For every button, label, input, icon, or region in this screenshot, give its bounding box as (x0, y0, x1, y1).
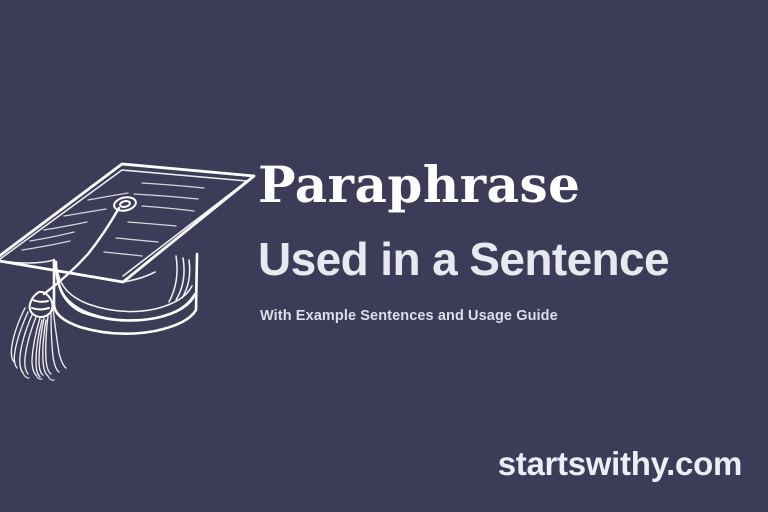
graduation-cap-sketch-icon (0, 142, 282, 372)
tassel-cord (44, 208, 119, 294)
cap-hatching (22, 183, 204, 256)
cap-mortarboard (0, 164, 254, 282)
tassel-strand-tips (23, 373, 54, 380)
cap-mortarboard-inner-edge (0, 170, 247, 282)
page-title-secondary: Used in a Sentence (258, 236, 758, 282)
tassel-knot (30, 292, 53, 317)
page-subtitle: With Example Sentences and Usage Guide (260, 308, 758, 324)
cap-button (113, 195, 137, 212)
headline-block: Paraphrase Used in a Sentence With Examp… (258, 160, 758, 324)
page-title-primary: Paraphrase (258, 160, 758, 210)
cap-crown-contours (58, 256, 193, 321)
brand-watermark: startswithy.com (498, 445, 742, 483)
tassel-strands (11, 308, 66, 377)
promo-banner: Paraphrase Used in a Sentence With Examp… (0, 0, 768, 512)
cap-crown (54, 254, 197, 334)
